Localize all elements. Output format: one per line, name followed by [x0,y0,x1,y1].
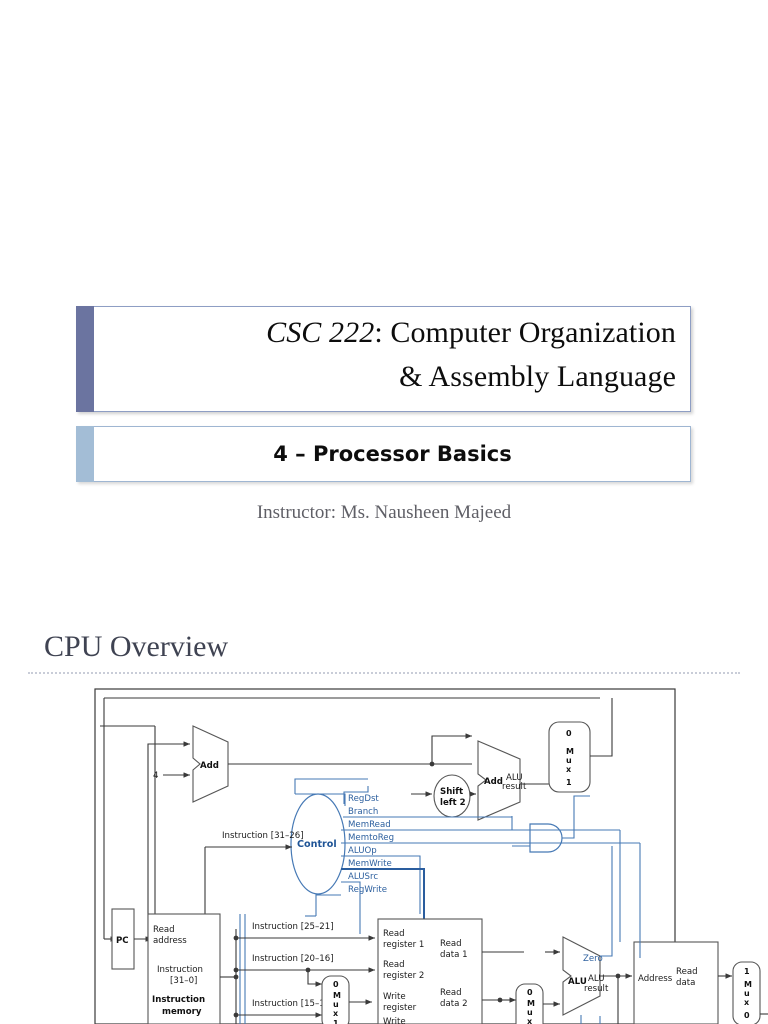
branch-and-gate [530,824,562,852]
svg-text:x: x [744,998,750,1007]
alusrc-mux-0: 0 [527,988,533,997]
im-instr-2: [31–0] [170,976,197,986]
shift-left-2: left 2 [440,798,466,808]
dm-readdata-1: Read [676,967,698,977]
svg-text:x: x [527,1017,533,1024]
svg-text:M: M [527,999,535,1008]
title-slide: CSC 222: Computer Organization & Assembl… [0,0,768,612]
rf-readreg1-1: Read [383,929,405,939]
branch-adder-label: Add [484,777,503,787]
svg-text:M: M [333,991,341,1000]
datapath-figure: PC Add 4 Add ALU result 0 M u [0,684,768,1024]
wire-regwrite-down [316,895,341,916]
course-code: CSC 222 [266,316,374,349]
rf-writereg-2: register [383,1003,417,1013]
svg-text:u: u [566,756,572,765]
svg-text:M: M [744,980,752,989]
dm-readdata-2: data [676,978,695,988]
pc-mux-0: 0 [566,729,572,738]
svg-text:u: u [333,1000,339,1009]
svg-text:x: x [333,1009,339,1018]
control-signal-memread: MemRead [348,820,391,830]
rf-readdata2-1: Read [440,988,462,998]
junction-rs [234,936,239,941]
junction-rd [234,1013,239,1018]
course-title: CSC 222: Computer Organization & Assembl… [107,311,676,399]
instruction-field-25-21: Instruction [25–21] [252,922,334,932]
wire-pcplus4-to-mux [432,736,472,764]
im-read-2: address [153,936,187,946]
instruction-field-20-16: Instruction [20–16] [252,954,334,964]
control-signal-alusrc: ALUSrc [348,872,378,882]
control-signal-memwrite: MemWrite [348,859,392,869]
alu-result-2: result [584,984,609,994]
course-title-box: CSC 222: Computer Organization & Assembl… [76,306,691,412]
title-accent-bar [76,306,94,412]
wire-rt-to-mux [308,970,322,984]
wr-mux-1: 1 [333,1019,339,1024]
control-signal-memtoreg: MemtoReg [348,833,394,843]
control-signal-branch: Branch [348,807,378,817]
junction-rt [234,968,239,973]
heading-divider [28,672,740,674]
control-signal-aluop: ALUOp [348,846,377,856]
wire-and-to-mux-select [562,796,590,838]
control-signal-regwrite: RegWrite [348,885,387,895]
pc-label: PC [116,936,129,946]
rf-readreg2-1: Read [383,960,405,970]
wire-mux-to-pc-top [590,698,612,756]
junction-instr-bus [234,975,239,980]
svg-text:x: x [566,765,572,774]
wb-mux-1: 1 [744,967,750,976]
cpu-overview-slide: CPU Overview PC [0,612,768,1024]
rf-readreg2-2: register 2 [383,971,424,981]
instructor-line: Instructor: Ms. Nausheen Majeed [0,502,768,524]
control-signal-regdst: RegDst [348,794,379,804]
lecture-subtitle-box: 4 – Processor Basics [76,426,691,482]
rf-writedata: Write [383,1017,406,1024]
pc-mux-m: M [566,747,574,756]
wb-mux-0: 0 [744,1011,750,1020]
pc-adder-label: Add [200,761,219,771]
course-title-rest: : Computer Organization [374,316,676,349]
svg-text:u: u [527,1008,533,1017]
lecture-subtitle: 4 – Processor Basics [95,427,690,483]
rf-readdata2-2: data 2 [440,999,468,1009]
pc-mux-1: 1 [566,778,572,787]
im-read-1: Read [153,925,175,935]
junction-rt-mux [306,968,311,973]
im-title-1: Instruction [152,995,205,1005]
im-title-2: memory [162,1007,202,1017]
rf-readdata1-2: data 1 [440,950,468,960]
im-instr-1: Instruction [157,965,203,975]
rf-readdata1-1: Read [440,939,462,949]
instruction-field-15-11: Instruction [15–11] [252,999,334,1009]
course-title-line2: & Assembly Language [399,360,676,393]
dm-address: Address [638,974,673,984]
wr-mux-0: 0 [333,980,339,989]
rf-writereg-1: Write [383,992,406,1002]
subtitle-accent-bar [76,426,94,482]
wire-zero-out [600,846,612,956]
shift-left-1: Shift [440,787,463,797]
pc-adder-const: 4 [153,771,158,781]
svg-text:u: u [744,989,750,998]
alu-zero-label: Zero [583,954,603,964]
rf-readreg1-2: register 1 [383,940,424,950]
page-title: CPU Overview [44,630,228,664]
instruction-field-31-26: Instruction [31–26] [222,831,304,841]
